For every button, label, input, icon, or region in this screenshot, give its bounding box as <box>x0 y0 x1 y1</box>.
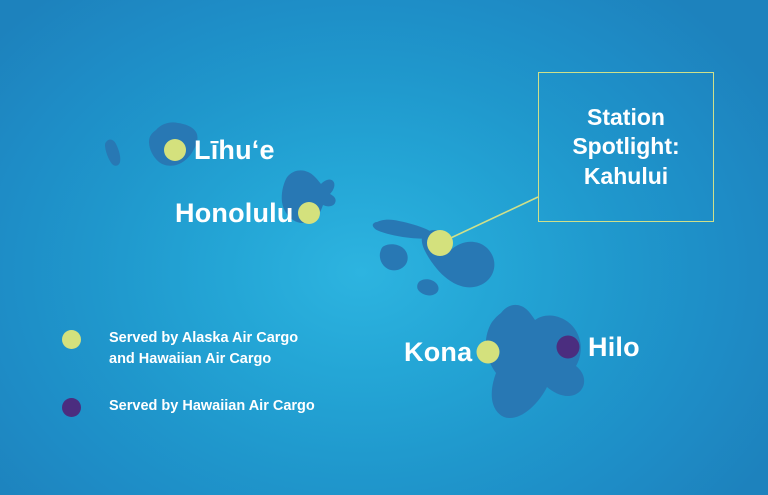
legend-label-alaska-hawaiian: Served by Alaska Air Cargo and Hawaiian … <box>109 328 298 370</box>
station-spotlight-title: Station Spotlight: Kahului <box>572 103 679 191</box>
label-kona: Kona <box>404 339 472 366</box>
marker-lihue[interactable] <box>164 139 186 161</box>
label-honolulu: Honolulu <box>175 200 294 227</box>
marker-hilo[interactable] <box>557 336 580 359</box>
legend-label-hawaiian: Served by Hawaiian Air Cargo <box>109 396 315 417</box>
legend-swatch-green-icon <box>62 330 81 349</box>
map-legend: Served by Alaska Air Cargo and Hawaiian … <box>62 328 315 417</box>
legend-item-hawaiian: Served by Hawaiian Air Cargo <box>62 396 315 417</box>
label-hilo: Hilo <box>588 334 640 361</box>
marker-kona[interactable] <box>477 341 500 364</box>
marker-kahului[interactable] <box>427 230 453 256</box>
legend-item-alaska-hawaiian: Served by Alaska Air Cargo and Hawaiian … <box>62 328 315 370</box>
legend-swatch-purple-icon <box>62 398 81 417</box>
hawaii-cargo-station-map: Līhuʻe Honolulu Kona Hilo Station Spotli… <box>0 0 768 495</box>
station-spotlight-box: Station Spotlight: Kahului <box>538 72 714 222</box>
spotlight-connector-line <box>440 197 538 243</box>
label-lihue: Līhuʻe <box>194 137 275 164</box>
marker-honolulu[interactable] <box>298 202 320 224</box>
